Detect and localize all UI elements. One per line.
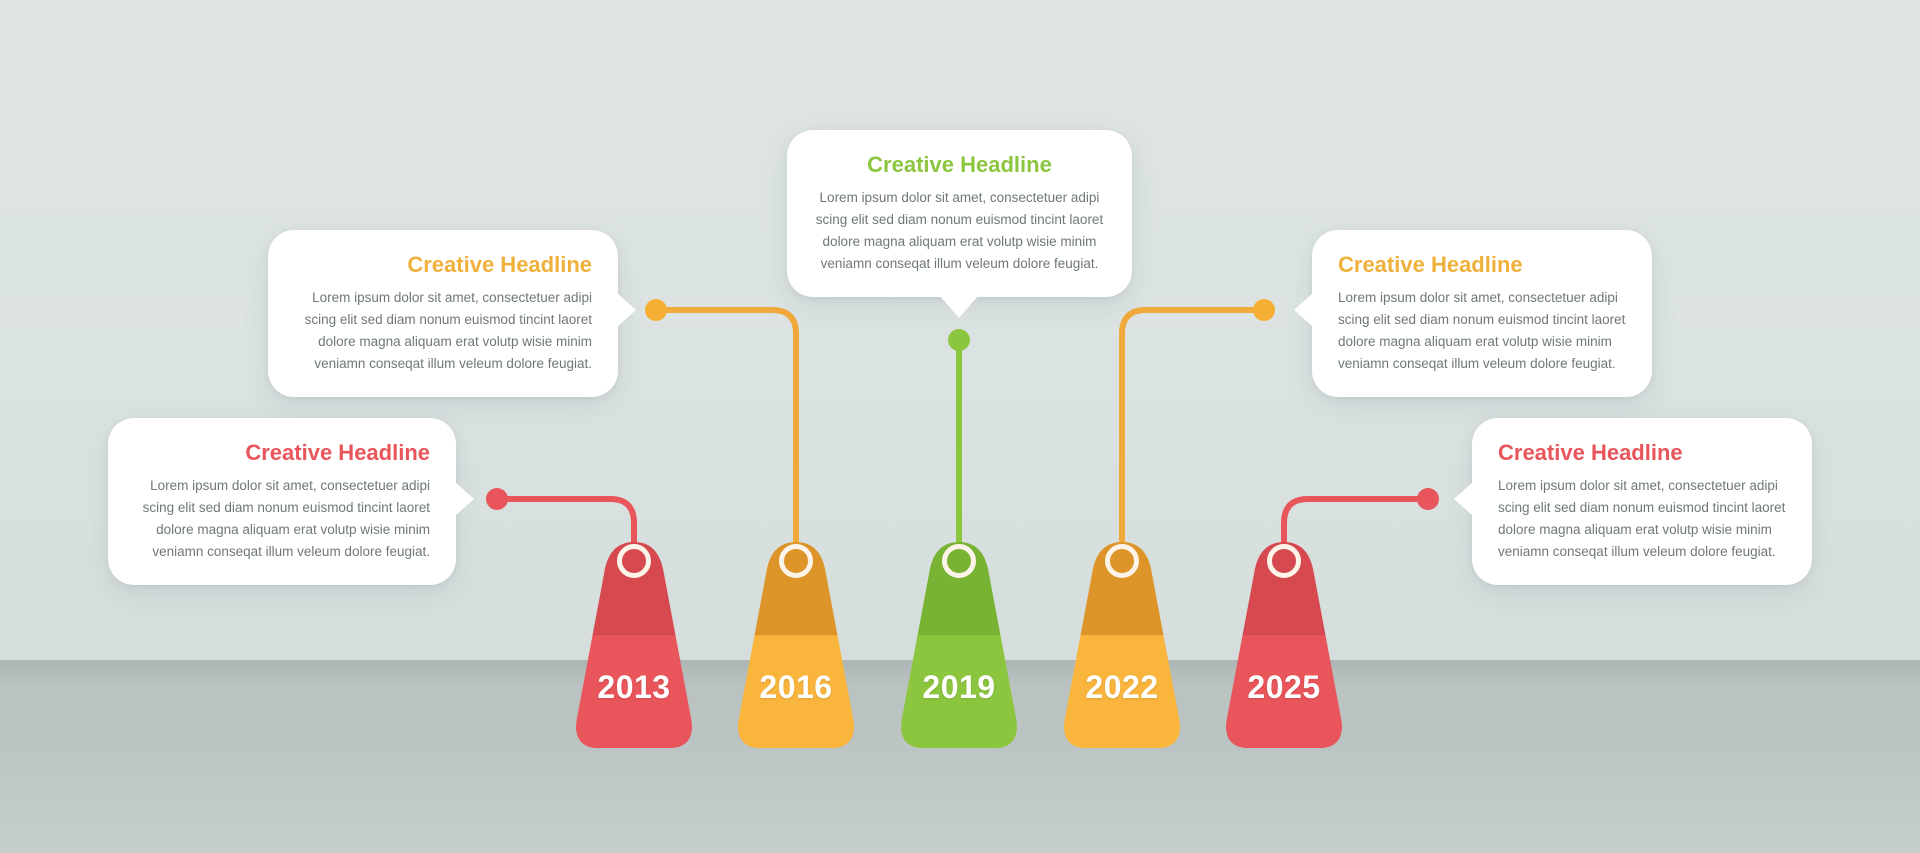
connector-dot-2019 <box>948 329 970 351</box>
card-tail-right-icon <box>455 482 474 516</box>
card-tail-left-icon <box>1454 482 1473 516</box>
cone-ring-icon <box>1267 544 1301 578</box>
card-headline: Creative Headline <box>813 152 1106 178</box>
connector-dot-2016 <box>645 299 667 321</box>
cone-year-label: 2022 <box>1052 669 1192 706</box>
milestone-cone-2019[interactable]: 2019 <box>889 540 1029 750</box>
card-body: Lorem ipsum dolor sit amet, consectetuer… <box>1338 287 1626 374</box>
card-tail-down-icon <box>940 296 978 318</box>
connector-dot-2025 <box>1417 488 1439 510</box>
card-body: Lorem ipsum dolor sit amet, consectetuer… <box>294 287 592 374</box>
milestone-card-2019[interactable]: Creative Headline Lorem ipsum dolor sit … <box>787 130 1132 297</box>
card-tail-right-icon <box>617 293 636 327</box>
milestone-card-2013[interactable]: Creative Headline Lorem ipsum dolor sit … <box>108 418 456 585</box>
cone-ring-icon <box>779 544 813 578</box>
cone-ring-icon <box>1105 544 1139 578</box>
card-tail-left-icon <box>1294 293 1313 327</box>
card-body: Lorem ipsum dolor sit amet, consectetuer… <box>134 475 430 562</box>
cone-year-label: 2016 <box>726 669 866 706</box>
connector-dot-2022 <box>1253 299 1275 321</box>
card-headline: Creative Headline <box>134 440 430 466</box>
milestone-cone-2025[interactable]: 2025 <box>1214 540 1354 750</box>
milestone-cone-2013[interactable]: 2013 <box>564 540 704 750</box>
cone-year-label: 2019 <box>889 669 1029 706</box>
milestone-card-2025[interactable]: Creative Headline Lorem ipsum dolor sit … <box>1472 418 1812 585</box>
card-headline: Creative Headline <box>1498 440 1786 466</box>
cone-ring-icon <box>617 544 651 578</box>
milestone-cone-2016[interactable]: 2016 <box>726 540 866 750</box>
connector-dot-2013 <box>486 488 508 510</box>
milestone-card-2022[interactable]: Creative Headline Lorem ipsum dolor sit … <box>1312 230 1652 397</box>
card-headline: Creative Headline <box>294 252 592 278</box>
card-headline: Creative Headline <box>1338 252 1626 278</box>
cone-ring-icon <box>942 544 976 578</box>
milestone-cone-2022[interactable]: 2022 <box>1052 540 1192 750</box>
infographic-canvas: 2013 2016 <box>0 0 1920 853</box>
card-body: Lorem ipsum dolor sit amet, consectetuer… <box>813 187 1106 274</box>
cone-year-label: 2025 <box>1214 669 1354 706</box>
cone-year-label: 2013 <box>564 669 704 706</box>
milestone-card-2016[interactable]: Creative Headline Lorem ipsum dolor sit … <box>268 230 618 397</box>
card-body: Lorem ipsum dolor sit amet, consectetuer… <box>1498 475 1786 562</box>
